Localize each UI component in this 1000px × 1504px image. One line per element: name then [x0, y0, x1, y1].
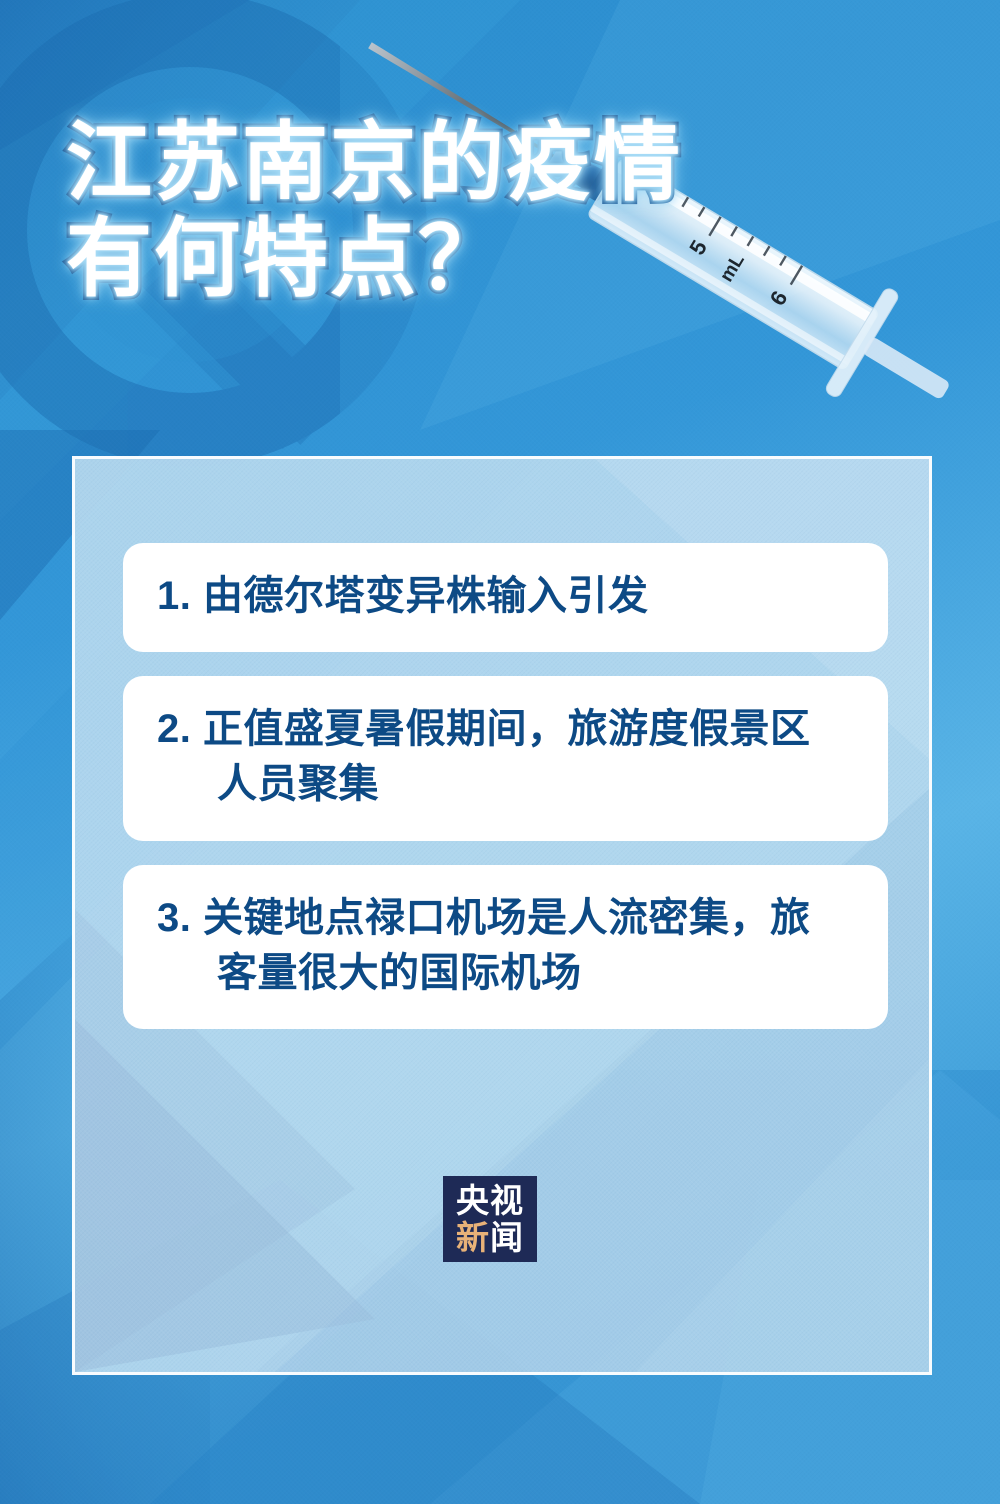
list-item-text: 1. 由德尔塔变异株输入引发	[157, 569, 854, 624]
logo-char-yang: 央	[456, 1184, 490, 1217]
logo-row-top: 央 视	[456, 1184, 524, 1217]
title-line-1: 江苏南京的疫情	[66, 120, 926, 208]
list-item-text: 2. 正值盛夏暑假期间，旅游度假景区 人员聚集	[157, 702, 854, 812]
logo-char-shi: 视	[490, 1184, 524, 1217]
poster-root: 5 mL 6 江苏南京的疫情 有何特点？ 1. 由德尔塔变异株输入引发	[0, 0, 1000, 1504]
logo-char-wen: 闻	[490, 1221, 524, 1254]
logo-row-bottom: 新 闻	[456, 1221, 524, 1254]
logo-char-xin: 新	[456, 1221, 490, 1254]
feature-list: 1. 由德尔塔变异株输入引发 2. 正值盛夏暑假期间，旅游度假景区 人员聚集 3…	[123, 543, 888, 1053]
poster-title: 江苏南京的疫情 有何特点？	[66, 120, 926, 311]
cctv-news-logo: 央 视 新 闻	[443, 1176, 537, 1262]
list-item[interactable]: 2. 正值盛夏暑假期间，旅游度假景区 人员聚集	[123, 676, 888, 840]
title-line-2: 有何特点？	[66, 216, 926, 304]
list-item[interactable]: 1. 由德尔塔变异株输入引发	[123, 543, 888, 652]
list-item[interactable]: 3. 关键地点禄口机场是人流密集，旅 客量很大的国际机场	[123, 865, 888, 1029]
list-item-text: 3. 关键地点禄口机场是人流密集，旅 客量很大的国际机场	[157, 891, 854, 1001]
